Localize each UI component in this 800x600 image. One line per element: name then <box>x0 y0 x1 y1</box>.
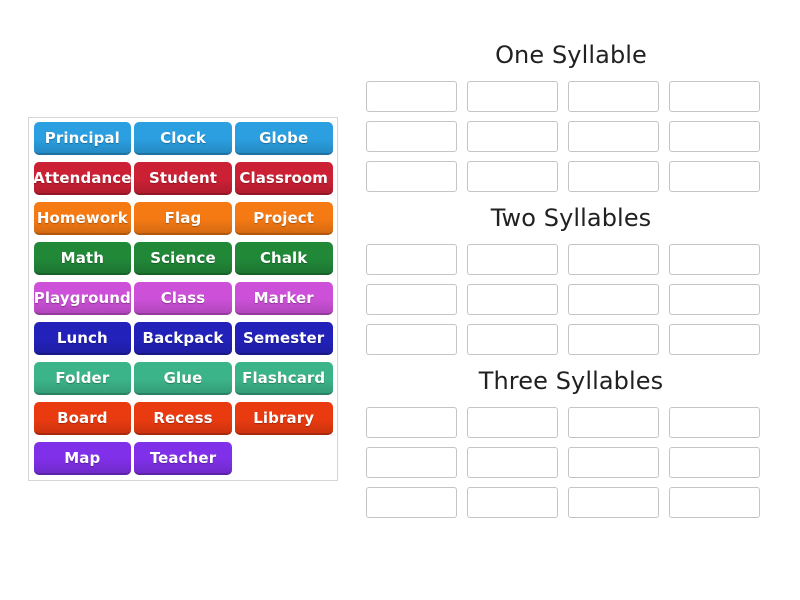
tile-row: BoardRecessLibrary <box>32 402 334 442</box>
drop-slot[interactable] <box>568 244 659 275</box>
word-tile[interactable]: Lunch <box>34 322 132 355</box>
word-tile[interactable]: Classroom <box>235 162 333 195</box>
word-tile[interactable]: Teacher <box>134 442 232 475</box>
word-tile[interactable]: Principal <box>34 122 132 155</box>
word-tile[interactable]: Board <box>34 402 132 435</box>
drop-slot[interactable] <box>366 284 457 315</box>
word-tile[interactable]: Marker <box>235 282 333 315</box>
word-tile[interactable]: Science <box>134 242 232 275</box>
category-title: Two Syllables <box>366 203 776 233</box>
drop-slot[interactable] <box>467 447 558 478</box>
drop-slot[interactable] <box>366 244 457 275</box>
drop-slot[interactable] <box>669 161 760 192</box>
word-tile[interactable]: Globe <box>235 122 333 155</box>
tile-slot-empty <box>235 442 333 475</box>
drop-slot[interactable] <box>467 81 558 112</box>
drop-slot[interactable] <box>568 284 659 315</box>
word-tile[interactable]: Playground <box>34 282 132 315</box>
drop-slot[interactable] <box>669 324 760 355</box>
word-tile[interactable]: Homework <box>34 202 132 235</box>
word-tile[interactable]: Flashcard <box>235 362 333 395</box>
category-columns: One SyllableTwo SyllablesThree Syllables <box>366 40 776 529</box>
tile-row: HomeworkFlagProject <box>32 202 334 242</box>
category-title: One Syllable <box>366 40 776 70</box>
category-title: Three Syllables <box>366 366 776 396</box>
word-tile[interactable]: Semester <box>235 322 333 355</box>
tile-row: AttendanceStudentClassroom <box>32 162 334 202</box>
drop-slot[interactable] <box>669 284 760 315</box>
word-tile[interactable]: Class <box>134 282 232 315</box>
drop-slot[interactable] <box>568 487 659 518</box>
drop-slot[interactable] <box>467 121 558 152</box>
slot-row <box>366 121 776 152</box>
word-tile[interactable]: Math <box>34 242 132 275</box>
drop-slot[interactable] <box>669 244 760 275</box>
slot-row <box>366 447 776 478</box>
word-tile-pool[interactable]: PrincipalClockGlobeAttendanceStudentClas… <box>28 117 338 481</box>
tile-row: LunchBackpackSemester <box>32 322 334 362</box>
word-tile[interactable]: Attendance <box>34 162 132 195</box>
tile-row: PrincipalClockGlobe <box>32 122 334 162</box>
word-sort-activity: PrincipalClockGlobeAttendanceStudentClas… <box>0 0 800 600</box>
drop-slot[interactable] <box>366 447 457 478</box>
word-tile[interactable]: Recess <box>134 402 232 435</box>
drop-slot[interactable] <box>366 161 457 192</box>
word-tile[interactable]: Folder <box>34 362 132 395</box>
word-tile[interactable]: Project <box>235 202 333 235</box>
drop-slot[interactable] <box>467 407 558 438</box>
word-tile[interactable]: Map <box>34 442 132 475</box>
word-tile[interactable]: Chalk <box>235 242 333 275</box>
slot-row <box>366 284 776 315</box>
slot-row <box>366 81 776 112</box>
slot-row <box>366 161 776 192</box>
tile-row: MapTeacher <box>32 442 334 482</box>
drop-slot[interactable] <box>366 324 457 355</box>
word-tile[interactable]: Glue <box>134 362 232 395</box>
drop-slot[interactable] <box>669 447 760 478</box>
drop-slot[interactable] <box>467 244 558 275</box>
drop-slot[interactable] <box>568 121 659 152</box>
word-tile[interactable]: Flag <box>134 202 232 235</box>
word-tile[interactable]: Student <box>134 162 232 195</box>
drop-slot[interactable] <box>568 161 659 192</box>
drop-slot[interactable] <box>669 407 760 438</box>
drop-slot[interactable] <box>568 324 659 355</box>
word-tile[interactable]: Library <box>235 402 333 435</box>
slot-row <box>366 487 776 518</box>
drop-slot[interactable] <box>669 81 760 112</box>
tile-row: FolderGlueFlashcard <box>32 362 334 402</box>
drop-slot[interactable] <box>568 407 659 438</box>
tile-row: MathScienceChalk <box>32 242 334 282</box>
word-tile[interactable]: Clock <box>134 122 232 155</box>
slot-row <box>366 244 776 275</box>
tile-row: PlaygroundClassMarker <box>32 282 334 322</box>
drop-slot[interactable] <box>467 284 558 315</box>
slot-row <box>366 324 776 355</box>
drop-slot[interactable] <box>467 161 558 192</box>
drop-slot[interactable] <box>366 407 457 438</box>
drop-slot[interactable] <box>669 487 760 518</box>
drop-slot[interactable] <box>467 324 558 355</box>
drop-slot[interactable] <box>366 487 457 518</box>
category-group: One Syllable <box>366 40 776 192</box>
category-group: Three Syllables <box>366 366 776 518</box>
drop-slot[interactable] <box>467 487 558 518</box>
drop-slot[interactable] <box>669 121 760 152</box>
drop-slot[interactable] <box>568 447 659 478</box>
word-tile[interactable]: Backpack <box>134 322 232 355</box>
category-group: Two Syllables <box>366 203 776 355</box>
drop-slot[interactable] <box>568 81 659 112</box>
drop-slot[interactable] <box>366 81 457 112</box>
drop-slot[interactable] <box>366 121 457 152</box>
slot-row <box>366 407 776 438</box>
